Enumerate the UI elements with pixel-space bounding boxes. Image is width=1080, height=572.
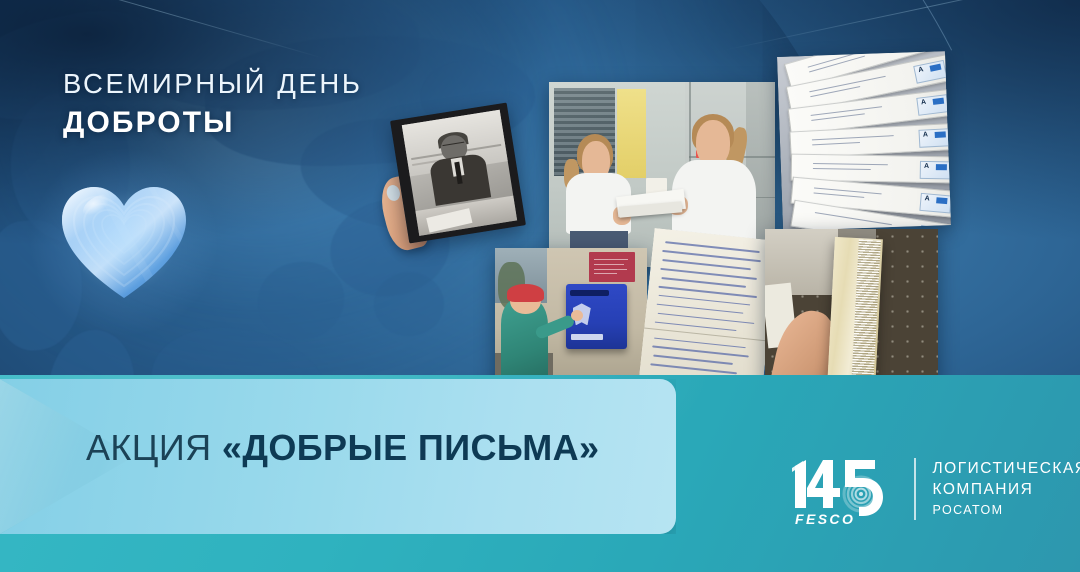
page-title-line1: ВСЕМИРНЫЙ ДЕНЬ [63,68,363,100]
photo-envelope-fan: A A A A A A A [777,51,951,231]
logo-divider [914,458,916,520]
photo-child-mailbox [495,248,647,386]
poster-canvas: ВСЕМИРНЫЙ ДЕНЬ ДОБРОТЫ [0,0,1080,572]
fesco-wordmark: FESCO [795,511,855,527]
company-logo: FESCO ЛОГИСТИЧЕСКАЯ КОМПАНИЯ РОСАТОМ [789,452,1080,526]
logo-line-3: РОСАТОМ [933,502,1080,519]
logo-line-1: ЛОГИСТИЧЕСКАЯ [933,459,1080,479]
logo-145-mark: FESCO [789,452,897,526]
fingernail [385,184,401,203]
wall-notice [589,252,635,282]
person-left [563,115,653,267]
action-banner-title: «ДОБРЫЕ ПИСЬМА» [222,427,600,468]
logo-company-name: ЛОГИСТИЧЕСКАЯ КОМПАНИЯ РОСАТОМ [933,459,1080,518]
action-banner-text: АКЦИЯ «ДОБРЫЕ ПИСЬМА» [86,427,599,469]
photo-content [401,110,516,236]
logo-line-2: КОМПАНИЯ [933,480,1080,500]
heart-glow [30,148,218,336]
page-title-line2: ДОБРОТЫ [63,106,235,140]
action-banner-lead: АКЦИЯ [86,427,212,468]
photo-old-portrait [390,103,526,244]
child-red-hat [507,284,543,302]
heart-graphic [58,176,190,308]
